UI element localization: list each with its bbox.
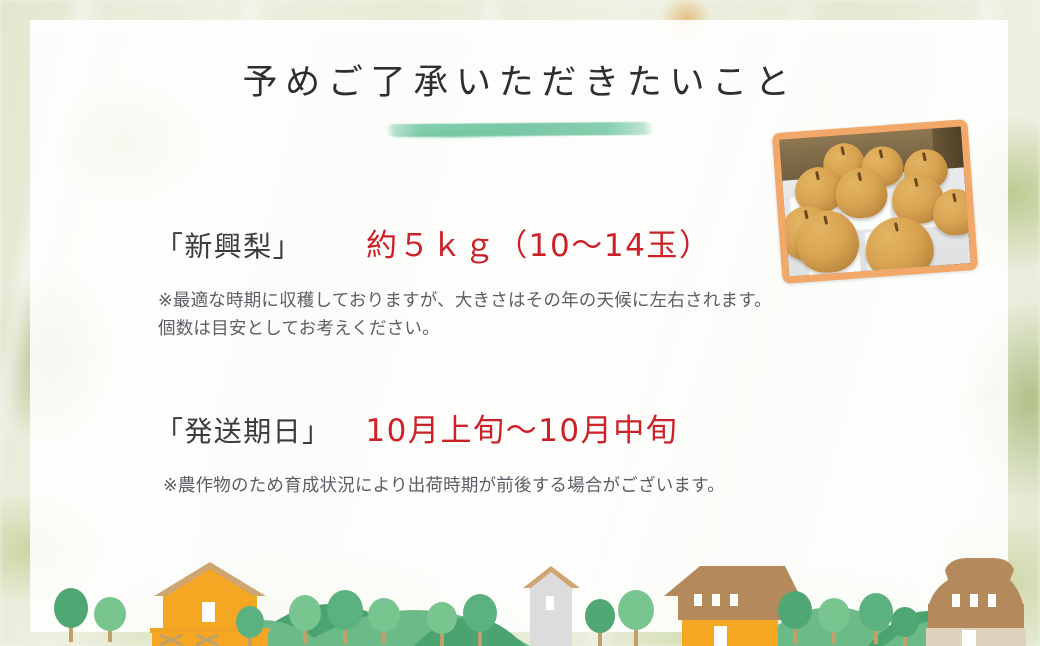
promotional-banner: 予めご了承いただきたいこと: [0, 0, 1040, 646]
shipping-row: 「発送期日」 10月上旬〜10月中旬: [155, 405, 678, 450]
countryside-village-front-layer: [0, 536, 1040, 646]
product-note: ※最適な時期に収穫しておりますが、大きさはその年の天候に左右されます。 個数は目…: [158, 287, 918, 344]
photo-inner: [779, 127, 971, 277]
shipping-value: 10月上旬〜10月中旬: [365, 405, 678, 450]
pear-box-photo: [772, 119, 979, 284]
house-gray: [523, 566, 580, 646]
shipping-note: ※農作物のため育成状況により出荷時期が前後する場合がございます。: [163, 472, 953, 500]
product-value: 約５ｋｇ（10〜14玉）: [366, 220, 712, 265]
product-label: 「新興梨」: [155, 225, 302, 265]
village-front-svg: [0, 536, 1040, 646]
page-title: 予めご了承いただきたいこと: [242, 62, 797, 104]
tree-group-front: [236, 590, 654, 646]
shipping-label: 「発送期日」: [155, 410, 331, 450]
product-row: 「新興梨」 約５ｋｇ（10〜14玉）: [155, 220, 712, 265]
page-title-wrapper: 予めご了承いただきたいこと: [0, 62, 1040, 104]
